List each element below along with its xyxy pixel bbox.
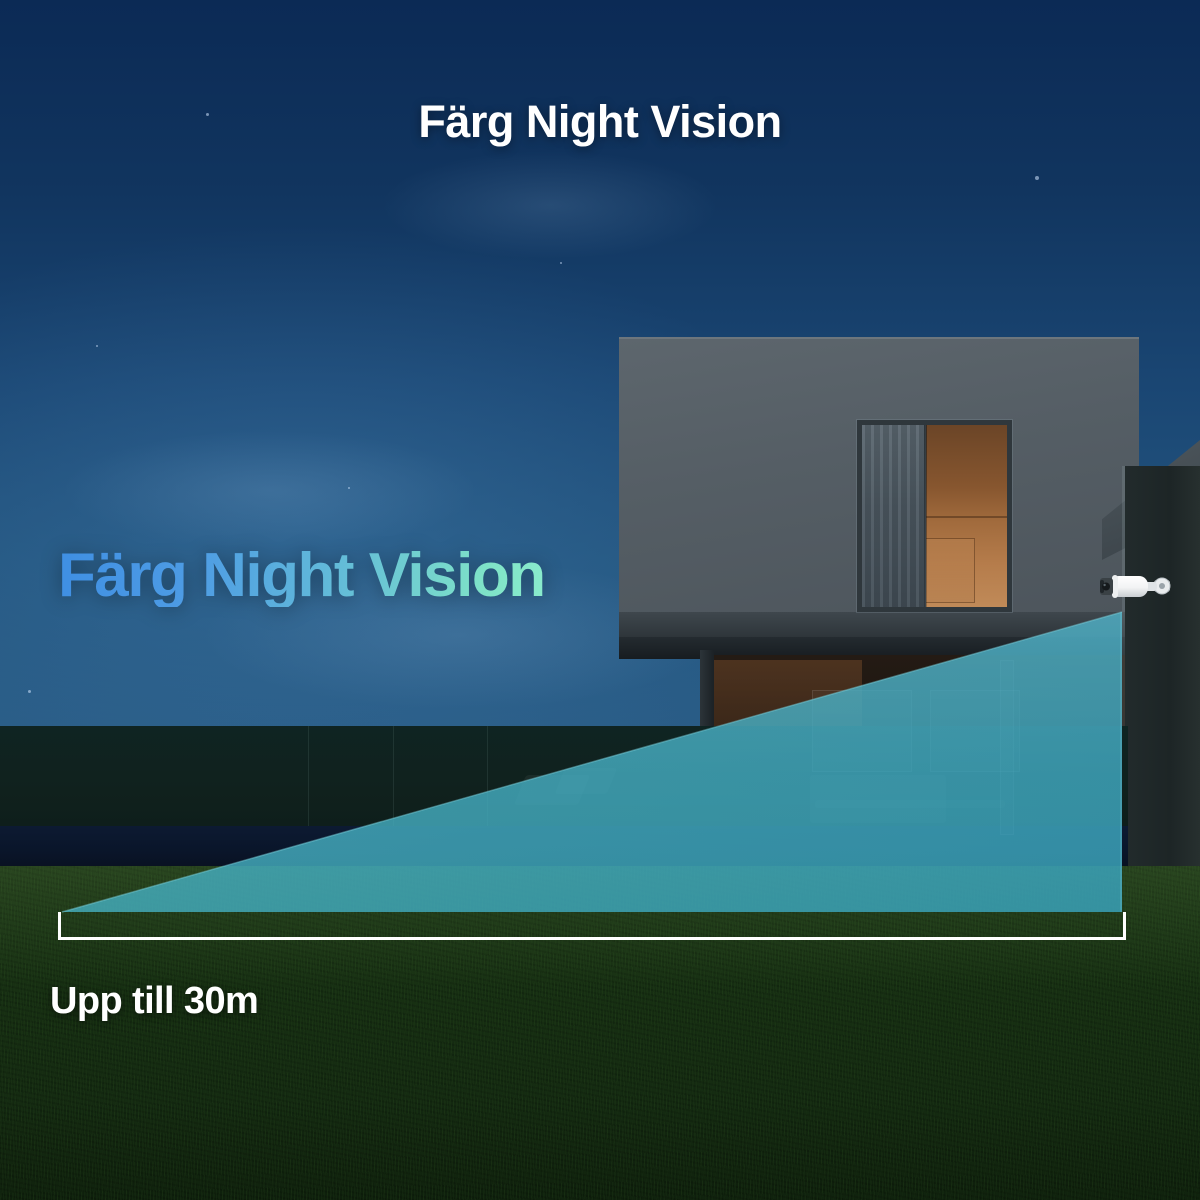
ghost-table [815, 800, 1005, 808]
ghost-picture-frame [812, 690, 912, 772]
ghost-sofa [810, 775, 946, 823]
right-wing-wall [1125, 466, 1200, 872]
window-curtain [862, 425, 926, 607]
star-dot [96, 345, 98, 347]
ghost-door-mullion [1000, 660, 1014, 835]
lit-window [857, 420, 1012, 612]
star-dot [348, 487, 350, 489]
cloud-wisp-left [60, 430, 480, 550]
bullet-security-camera[interactable] [1096, 566, 1174, 612]
window-curtain-edge [924, 425, 927, 607]
bracket-line [58, 937, 1126, 940]
range-caption: Upp till 30m [50, 980, 258, 1023]
star-dot [560, 262, 562, 264]
page-title: Färg Night Vision [0, 96, 1200, 148]
product-banner-scene: Färg Night Vision Färg Night Vision Upp … [0, 0, 1200, 1200]
headline-feature-name: Färg Night Vision [58, 545, 545, 607]
range-measure-bracket [52, 912, 1132, 944]
house-upper-shadow-band [619, 612, 1139, 640]
cloud-wisp-top [380, 150, 720, 260]
bracket-tick-left [58, 912, 61, 940]
star-dot [1035, 176, 1039, 180]
ghost-lounger [555, 768, 618, 794]
star-dot [28, 690, 31, 693]
bracket-tick-right [1123, 912, 1126, 940]
window-inner [862, 425, 1007, 607]
